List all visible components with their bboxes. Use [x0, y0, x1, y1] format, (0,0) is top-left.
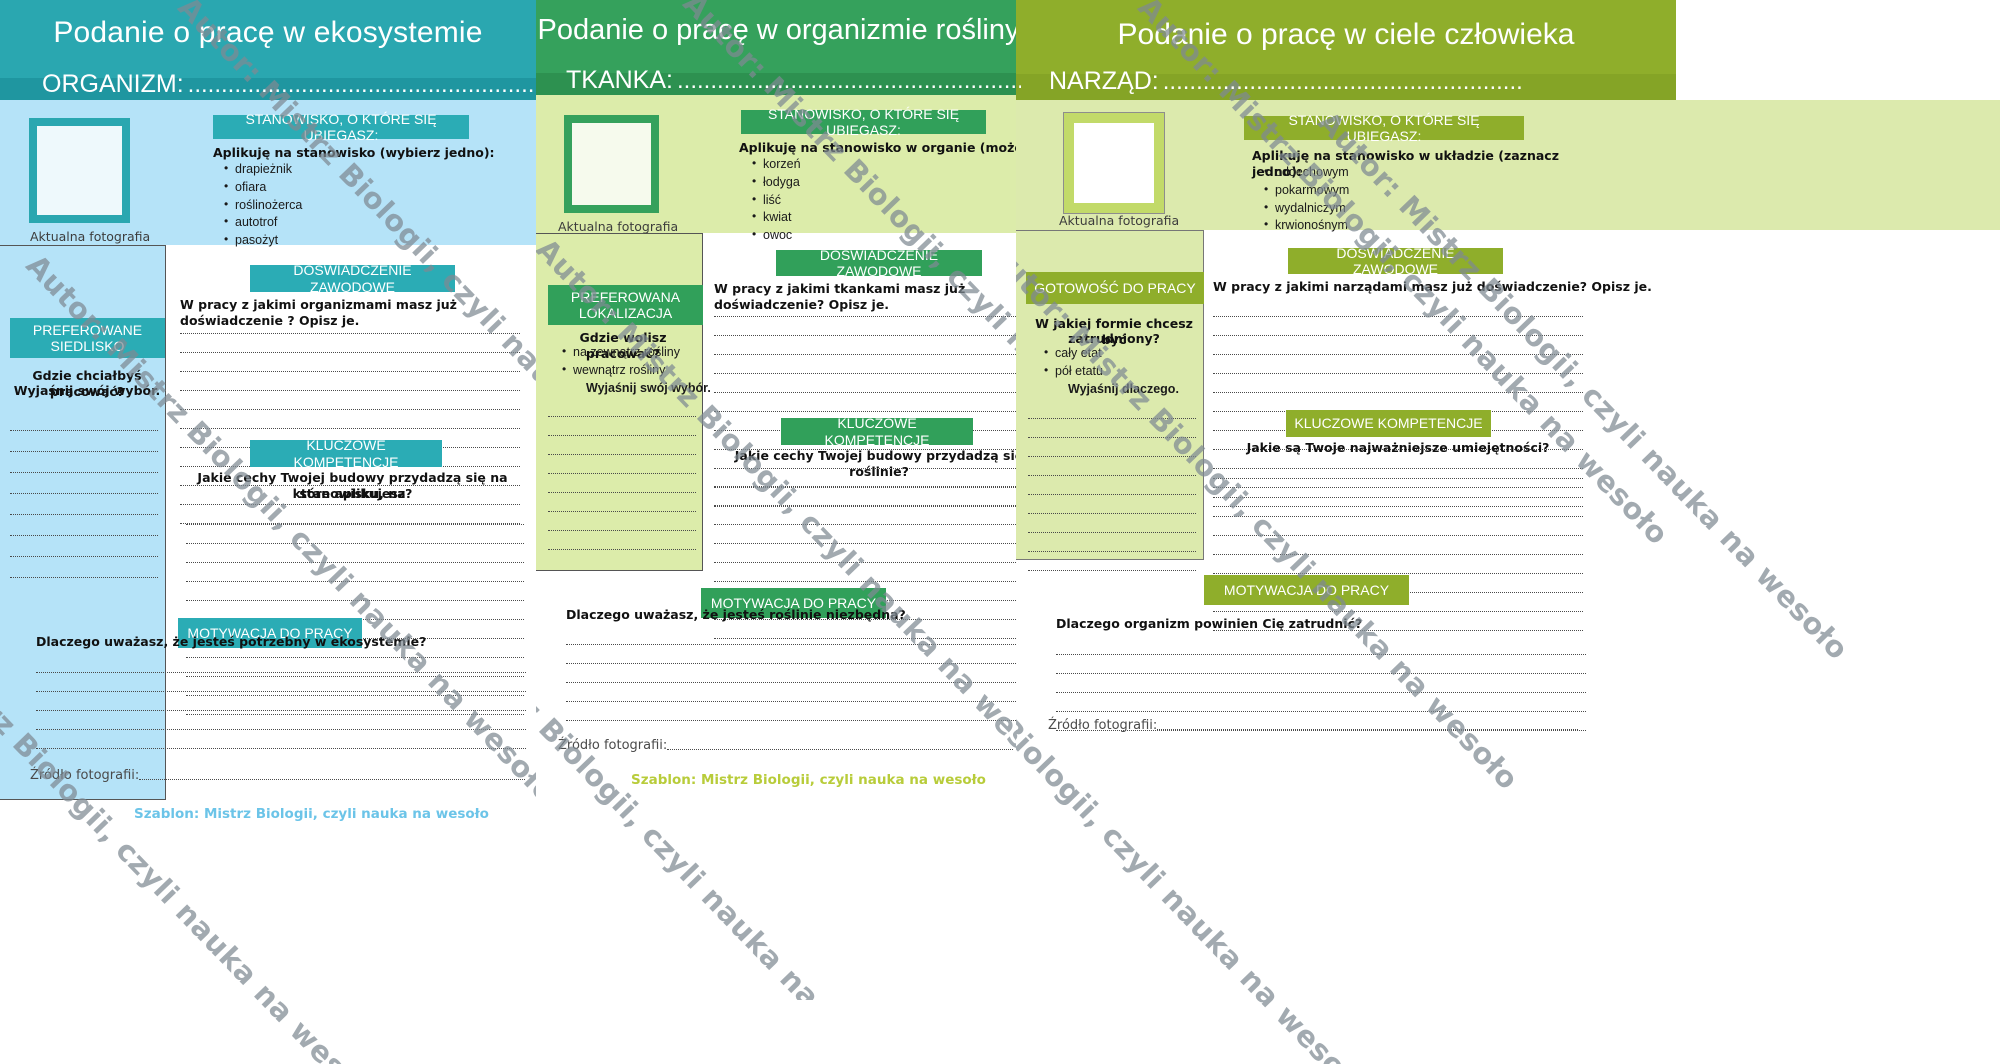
sheet3-side-tag: GOTOWOŚĆ DO PRACY	[1026, 272, 1204, 304]
sheet1-side-tag: PREFEROWANE SIEDLISKO	[10, 318, 165, 358]
sheet2-position-tag: STANOWISKO, O KTÓRE SIĘ UBIEGASZ:	[741, 110, 986, 134]
sheet-ekosystem: Podanie o pracę w ekosystemie ORGANIZM: …	[0, 0, 536, 1064]
sheet3-competence-q1: Jakie są Twoje najważniejsze umiejętnośc…	[1213, 440, 1583, 456]
sheet3-experience-tag: DOŚWIADCZENIE ZAWODOWE	[1288, 248, 1503, 274]
sheet1-field-label: ORGANIZM:	[42, 70, 184, 99]
sheet1-motivation-q: Dlaczego uważasz, że jesteś potrzebny w …	[36, 634, 456, 650]
sheet3-motivation-q: Dlaczego organizm powinien Cię zatrudnić…	[1056, 616, 1476, 632]
option-item[interactable]: korzeń	[750, 156, 801, 174]
option-item[interactable]: krwionośnym	[1262, 217, 1349, 235]
sheet3-competence-lines[interactable]	[1213, 460, 1583, 631]
sheet2-field-dots: ........................................…	[677, 67, 1021, 95]
sheet2-credit: Szablon: Mistrz Biologii, czyli nauka na…	[631, 772, 986, 788]
sheet3-field-label: NARZĄD:	[1049, 67, 1159, 96]
sheet3-position-options: oddechowym pokarmowym wydalniczym krwion…	[1262, 164, 1349, 235]
sheet3-experience-q: W pracy z jakimi narządami masz już dośw…	[1213, 279, 1613, 295]
sheet1-photo-placeholder	[37, 126, 122, 215]
sheet3-photo-frame	[1064, 113, 1164, 213]
sheet1-position-tag: STANOWISKO, O KTÓRE SIĘ UBIEGASZ:	[213, 115, 469, 139]
sheet2-source-label: Źródło fotografii:	[558, 738, 667, 753]
option-item[interactable]: roślinożerca	[222, 197, 302, 215]
sheet-czlowiek: Podanie o pracę w ciele człowieka NARZĄD…	[1016, 0, 2000, 1064]
sheet1-source-row[interactable]: Źródło fotografii:	[30, 768, 525, 783]
sheet1-field-row: ORGANIZM: ..............................…	[42, 70, 536, 99]
option-item[interactable]: pasożyt	[222, 232, 302, 250]
sheet2-field-label: TKANKA:	[566, 66, 673, 95]
sheet2-experience-tag: DOŚWIADCZENIE ZAWODOWE	[776, 250, 982, 276]
option-item[interactable]: łodyga	[750, 174, 801, 192]
sheet2-photo-frame	[564, 115, 659, 213]
option-item[interactable]: owoc	[750, 227, 801, 245]
option-item[interactable]: oddechowym	[1262, 164, 1349, 182]
sheet1-position-options: drapieżnik ofiara roślinożerca autotrof …	[222, 161, 302, 250]
option-item[interactable]: ofiara	[222, 179, 302, 197]
sheet3-source-row[interactable]: Źródło fotografii:	[1048, 718, 1578, 733]
option-item[interactable]: na zewnątrz rośliny	[560, 344, 711, 362]
option-item[interactable]: pół etatu	[1042, 363, 1179, 381]
sheet3-side-q3: Wyjaśnij dlaczego.	[1042, 381, 1179, 399]
sheet2-position-options: korzeń łodyga liść kwiat owoc	[750, 156, 801, 245]
sheet3-motivation-tag: MOTYWACJA DO PRACY	[1204, 575, 1409, 605]
sheet2-competence-tag: KLUCZOWE KOMPETENCJE	[781, 418, 973, 445]
sheet2-source-line[interactable]	[667, 749, 1013, 750]
sheet1-side-q2: Wyjaśnij swój wybór.	[8, 383, 166, 399]
sheet3-photo-placeholder	[1074, 123, 1154, 203]
sheet1-motivation-lines[interactable]	[36, 654, 526, 749]
sheet3-competence-tag: KLUCZOWE KOMPETENCJE	[1286, 410, 1491, 437]
worksheet-collage: Podanie o pracę w ekosystemie ORGANIZM: …	[0, 0, 2000, 1064]
sheet3-field-dots: ........................................…	[1163, 68, 1523, 96]
sheet1-source-label: Źródło fotografii:	[30, 768, 139, 783]
sheet1-title: Podanie o pracę w ekosystemie	[0, 0, 536, 50]
sheet2-photo-placeholder	[572, 123, 651, 205]
sheet-roslina: Podanie o pracę w organizmie rośliny TKA…	[536, 0, 1021, 1000]
sheet2-position-prompt: Aplikuję na stanowisko w organie (możesz…	[739, 140, 1021, 156]
sheet3-position-tag: STANOWISKO, O KTÓRE SIĘ UBIEGASZ:	[1244, 116, 1524, 140]
sheet1-photo-caption: Aktualna fotografia	[30, 229, 150, 244]
sheet2-title: Podanie o pracę w organizmie rośliny	[536, 14, 1021, 47]
sheet1-competence-tag: KLUCZOWE KOMPETENCJE	[250, 440, 442, 467]
sheet3-source-label: Źródło fotografii:	[1048, 718, 1157, 733]
sheet2-side-options: na zewnątrz rośliny wewnątrz rośliny Wyj…	[560, 344, 711, 397]
sheet2-motivation-lines[interactable]	[566, 626, 1016, 721]
sheet1-credit: Szablon: Mistrz Biologii, czyli nauka na…	[134, 806, 489, 822]
option-item[interactable]: kwiat	[750, 209, 801, 227]
sheet2-side-lines[interactable]	[548, 398, 696, 550]
option-item[interactable]: cały etat	[1042, 345, 1179, 363]
option-item[interactable]: wydalniczym	[1262, 200, 1349, 218]
sheet2-source-row[interactable]: Źródło fotografii:	[558, 738, 1013, 753]
sheet3-motivation-lines[interactable]	[1056, 636, 1586, 731]
sheet2-side-q2: Wyjaśnij swój wybór.	[560, 380, 711, 398]
sheet2-field-row: TKANKA: ................................…	[566, 66, 1021, 95]
sheet2-side-tag: PREFEROWANA LOKALIZACJA	[548, 285, 703, 325]
option-item[interactable]: wewnątrz rośliny	[560, 362, 711, 380]
sheet1-photo-frame	[29, 118, 130, 223]
sheet3-photo-caption: Aktualna fotografia	[1059, 213, 1179, 228]
sheet1-source-line[interactable]	[139, 779, 525, 780]
sheet3-title: Podanie o pracę w ciele człowieka	[1016, 18, 1676, 52]
option-item[interactable]: liść	[750, 192, 801, 210]
sheet2-photo-caption: Aktualna fotografia	[558, 219, 678, 234]
option-item[interactable]: drapieżnik	[222, 161, 302, 179]
sheet3-side-lines[interactable]	[1028, 400, 1196, 571]
option-item[interactable]: autotrof	[222, 214, 302, 232]
sheet1-experience-tag: DOŚWIADCZENIE ZAWODOWE	[250, 265, 455, 292]
sheet3-side-options: cały etat pół etatu Wyjaśnij dlaczego.	[1042, 345, 1179, 398]
sheet1-side-lines[interactable]	[10, 410, 158, 578]
sheet3-source-line[interactable]	[1157, 729, 1578, 730]
sheet1-field-dots: ........................................…	[188, 71, 536, 99]
sheet3-field-row: NARZĄD: ................................…	[1049, 67, 1523, 96]
sheet1-competence-q2: które aplikujesz?	[180, 486, 525, 502]
sheet1-position-prompt: Aplikuję na stanowisko (wybierz jedno):	[213, 145, 513, 161]
option-item[interactable]: pokarmowym	[1262, 182, 1349, 200]
sheet2-motivation-q: Dlaczego uważasz, że jesteś roślinie nie…	[566, 607, 986, 623]
